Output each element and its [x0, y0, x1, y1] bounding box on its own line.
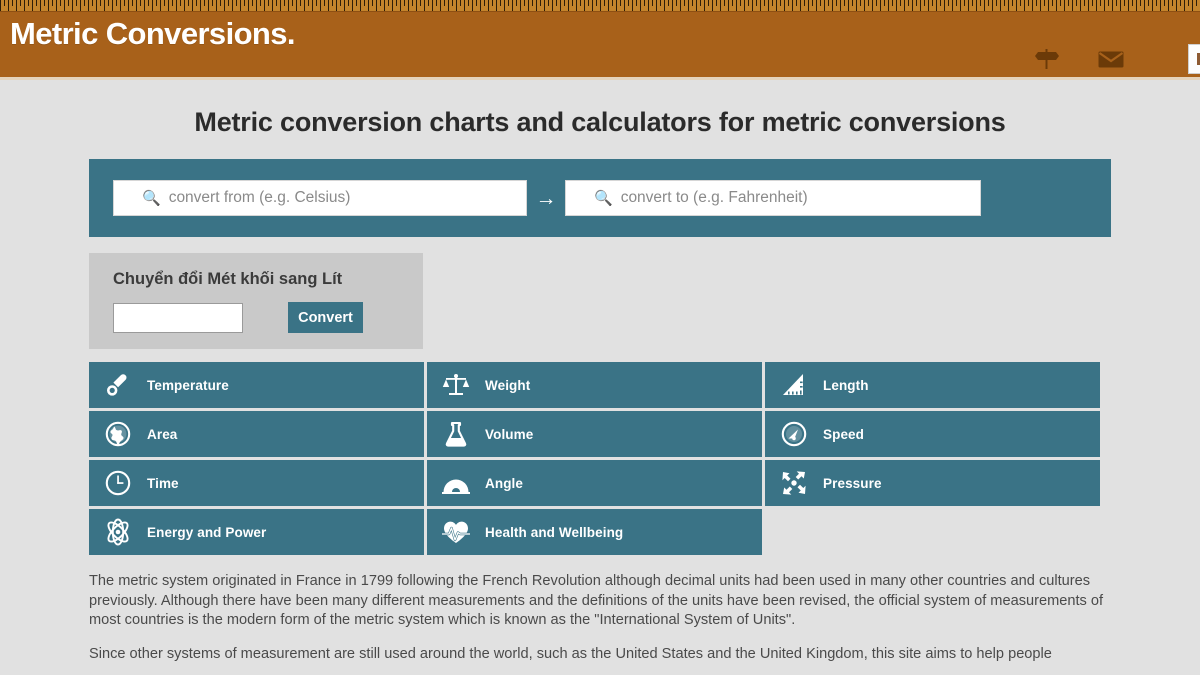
set-square-icon: [779, 370, 809, 400]
globe-icon: [103, 419, 133, 449]
convert-from-placeholder: convert from (e.g. Celsius): [169, 189, 351, 207]
site-logo[interactable]: Metric Conversions.: [10, 16, 295, 52]
conversion-search-bar: 🔍 convert from (e.g. Celsius) → 🔍 conver…: [89, 159, 1111, 237]
intro-text: The metric system originated in France i…: [89, 572, 1115, 664]
protractor-icon: [441, 468, 471, 498]
category-speed[interactable]: Speed: [765, 411, 1100, 457]
quick-convert-row: Convert: [113, 302, 401, 333]
header-bottom-edge: [0, 77, 1200, 80]
envelope-icon[interactable]: [1096, 47, 1126, 71]
category-weight[interactable]: Weight: [427, 362, 762, 408]
category-label: Volume: [485, 427, 533, 442]
main-content: 🔍 convert from (e.g. Celsius) → 🔍 conver…: [89, 159, 1111, 664]
category-angle[interactable]: Angle: [427, 460, 762, 506]
category-label: Pressure: [823, 476, 882, 491]
compress-arrows-icon: [779, 468, 809, 498]
category-label: Temperature: [147, 378, 229, 393]
category-volume[interactable]: Volume: [427, 411, 762, 457]
convert-to-field[interactable]: 🔍 convert to (e.g. Fahrenheit): [565, 180, 981, 216]
ruler-decoration: [0, 0, 1200, 12]
category-label: Length: [823, 378, 869, 393]
category-grid: Temperature Weight: [89, 362, 1111, 555]
category-label: Time: [147, 476, 179, 491]
header-toolbar: [1032, 44, 1200, 74]
signpost-icon[interactable]: [1032, 47, 1062, 71]
category-label: Area: [147, 427, 177, 442]
category-label: Weight: [485, 378, 530, 393]
convert-button[interactable]: Convert: [288, 302, 363, 333]
quick-convert-input[interactable]: [113, 303, 243, 333]
language-selector[interactable]: [1188, 44, 1200, 74]
quick-convert-widget: Chuyển đổi Mét khối sang Lít Convert: [89, 253, 423, 349]
convert-to-placeholder: convert to (e.g. Fahrenheit): [621, 189, 808, 207]
balance-scale-icon: [441, 370, 471, 400]
category-label: Energy and Power: [147, 525, 266, 540]
category-label: Health and Wellbeing: [485, 525, 623, 540]
convert-from-field[interactable]: 🔍 convert from (e.g. Celsius): [113, 180, 527, 216]
search-icon: 🔍: [594, 191, 613, 206]
intro-paragraph-1: The metric system originated in France i…: [89, 572, 1115, 631]
category-area[interactable]: Area: [89, 411, 424, 457]
category-time[interactable]: Time: [89, 460, 424, 506]
category-label: Speed: [823, 427, 864, 442]
category-health-and-wellbeing[interactable]: Health and Wellbeing: [427, 509, 762, 555]
category-pressure[interactable]: Pressure: [765, 460, 1100, 506]
heartbeat-icon: [441, 517, 471, 547]
site-header: Metric Conversions.: [0, 0, 1200, 80]
clock-icon: [103, 468, 133, 498]
language-flag-icon: [1197, 53, 1200, 65]
intro-paragraph-2: Since other systems of measurement are s…: [89, 645, 1115, 665]
flask-icon: [441, 419, 471, 449]
arrow-right-icon: →: [527, 188, 565, 209]
speedometer-icon: [779, 419, 809, 449]
category-energy-and-power[interactable]: Energy and Power: [89, 509, 424, 555]
quick-convert-title: Chuyển đổi Mét khối sang Lít: [113, 270, 401, 289]
category-temperature[interactable]: Temperature: [89, 362, 424, 408]
category-label: Angle: [485, 476, 523, 491]
search-icon: 🔍: [142, 191, 161, 206]
atom-icon: [103, 517, 133, 547]
category-length[interactable]: Length: [765, 362, 1100, 408]
thermometer-icon: [103, 370, 133, 400]
page-title: Metric conversion charts and calculators…: [0, 107, 1200, 138]
